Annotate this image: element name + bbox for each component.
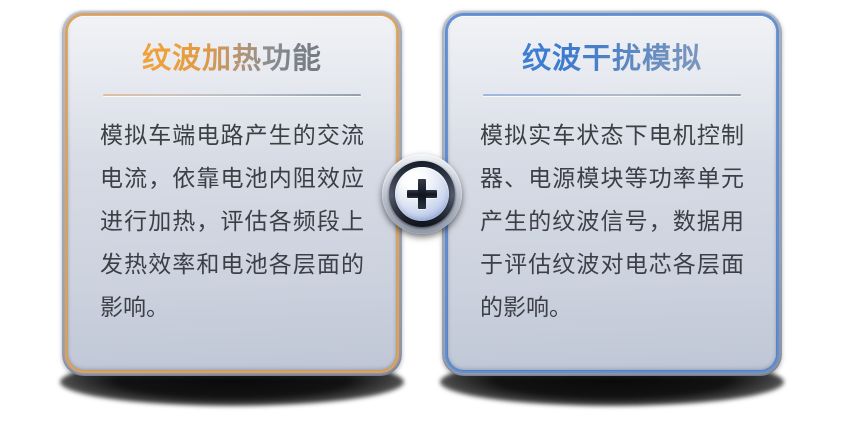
card-panel-left: 纹波加热功能 模拟车端电路产生的交流电流，依靠电池内阻效应进行加热，评估各频段上… bbox=[68, 16, 396, 370]
plus-icon bbox=[407, 179, 437, 209]
card-title-ripple-interference: 纹波干扰模拟 bbox=[522, 43, 702, 76]
card-ripple-heating[interactable]: 纹波加热功能 模拟车端电路产生的交流电流，依靠电池内阻效应进行加热，评估各频段上… bbox=[62, 10, 402, 376]
card-ripple-interference[interactable]: 纹波干扰模拟 模拟实车状态下电机控制器、电源模块等功率单元产生的纹波信号，数据用… bbox=[442, 10, 782, 376]
card-panel-right: 纹波干扰模拟 模拟实车状态下电机控制器、电源模块等功率单元产生的纹波信号，数据用… bbox=[448, 16, 776, 370]
card-divider-left bbox=[103, 94, 361, 96]
diagram-canvas: 纹波加热功能 模拟车端电路产生的交流电流，依靠电池内阻效应进行加热，评估各频段上… bbox=[0, 0, 842, 435]
card-body-ripple-interference: 模拟实车状态下电机控制器、电源模块等功率单元产生的纹波信号，数据用于评估纹波对电… bbox=[480, 114, 744, 329]
card-divider-right bbox=[483, 94, 741, 96]
plus-button-face bbox=[395, 167, 449, 221]
card-title-ripple-heating: 纹波加热功能 bbox=[142, 43, 322, 76]
plus-button[interactable] bbox=[382, 154, 462, 234]
card-body-ripple-heating: 模拟车端电路产生的交流电流，依靠电池内阻效应进行加热，评估各频段上发热效率和电池… bbox=[100, 114, 364, 329]
